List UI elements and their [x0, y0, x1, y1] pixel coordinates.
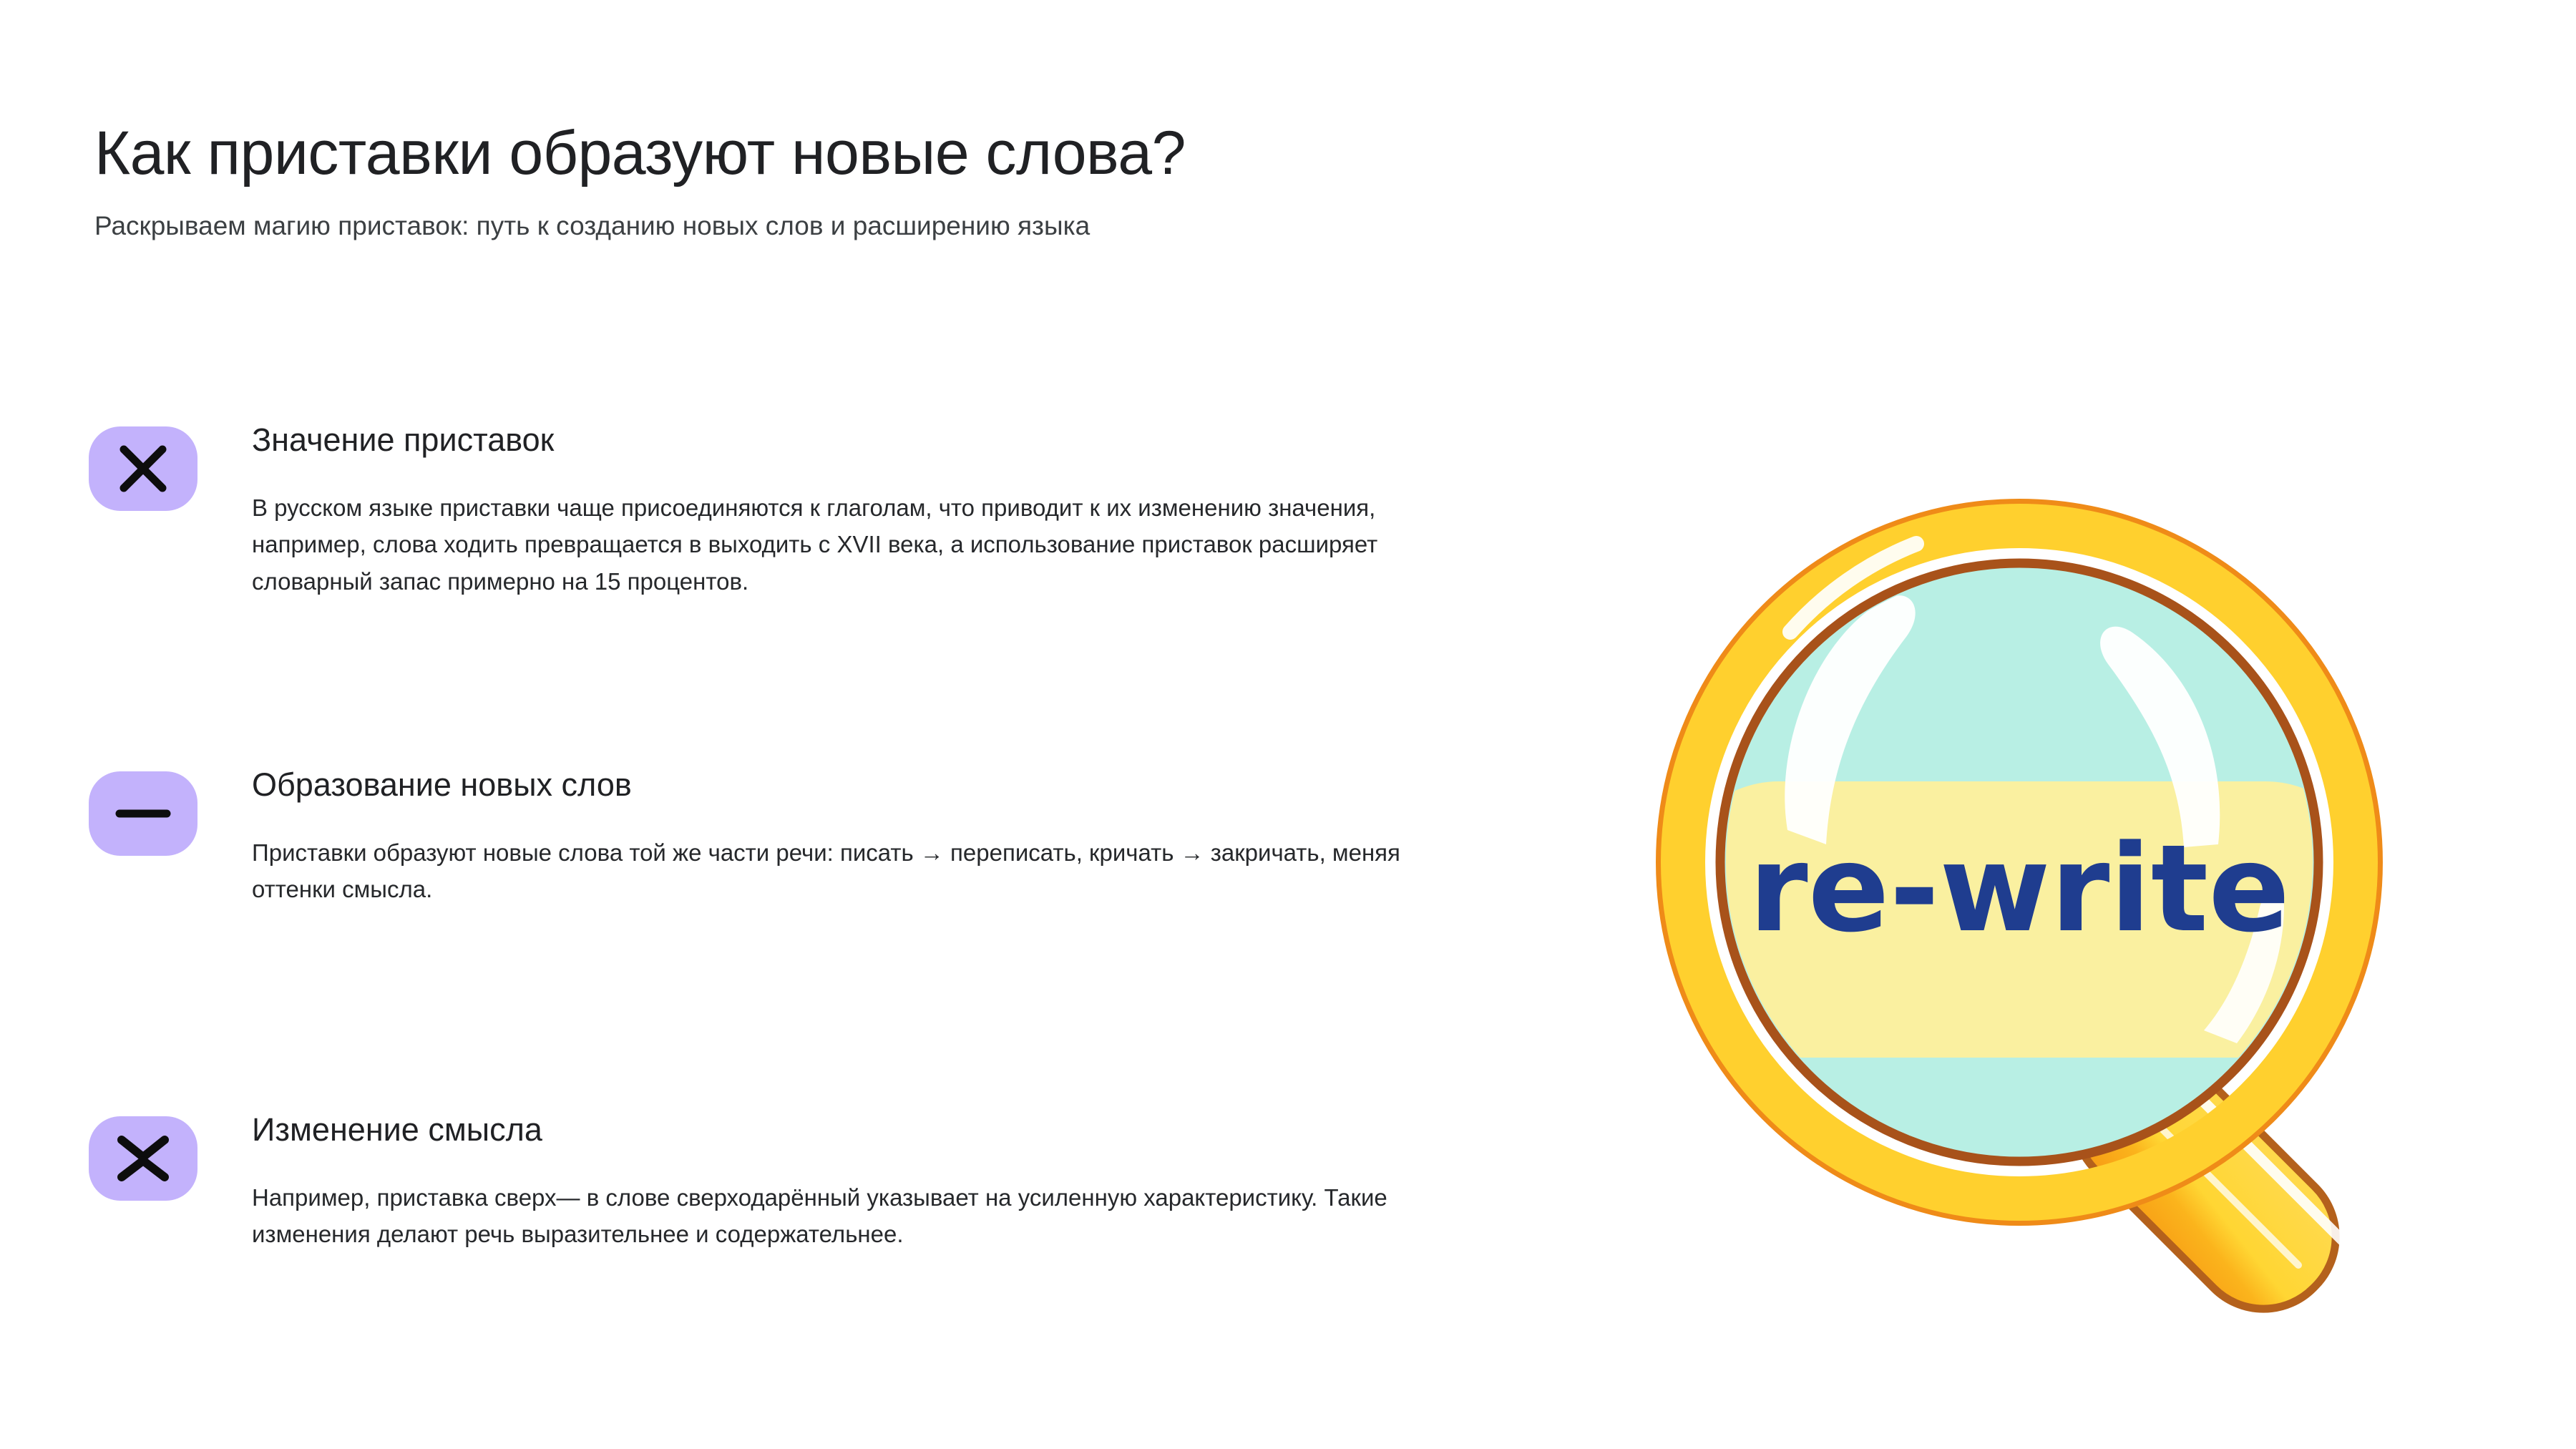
feature-title: Значение приставок	[252, 421, 1491, 459]
feature-text: Приставки образуют новые слова той же ча…	[252, 804, 1468, 908]
collapse-chevrons-icon	[114, 1131, 172, 1186]
feature-item: Образование новых слов Приставки образую…	[89, 766, 1491, 1066]
feature-body: Образование новых слов Приставки образую…	[252, 766, 1491, 908]
slide-canvas: Как приставки образуют новые слова? Раск…	[0, 0, 2576, 1449]
magnifying-glass-illustration: re-write	[1603, 458, 2447, 1374]
page-subtitle: Раскрываем магию приставок: путь к созда…	[94, 187, 1597, 244]
feature-item: Значение приставок В русском языке прист…	[89, 421, 1491, 721]
feature-list: Значение приставок В русском языке прист…	[89, 421, 1491, 1411]
feature-body: Изменение смысла Например, приставка све…	[252, 1111, 1491, 1253]
x-cross-icon	[115, 441, 171, 497]
feature-icon-tile	[89, 771, 197, 856]
feature-title: Изменение смысла	[252, 1111, 1491, 1149]
feature-title: Образование новых слов	[252, 766, 1491, 804]
feature-icon-tile	[89, 426, 197, 511]
minus-dash-icon	[112, 786, 174, 841]
feature-item: Изменение смысла Например, приставка све…	[89, 1111, 1491, 1411]
feature-text: Например, приставка сверх— в слове сверх…	[252, 1149, 1468, 1253]
header: Как приставки образуют новые слова? Раск…	[94, 120, 1597, 244]
page-title: Как приставки образуют новые слова?	[94, 120, 1597, 187]
feature-text: В русском языке приставки чаще присоедин…	[252, 459, 1468, 600]
feature-body: Значение приставок В русском языке прист…	[252, 421, 1491, 600]
lens-word: re-write	[1749, 819, 2290, 959]
feature-icon-tile	[89, 1116, 197, 1201]
